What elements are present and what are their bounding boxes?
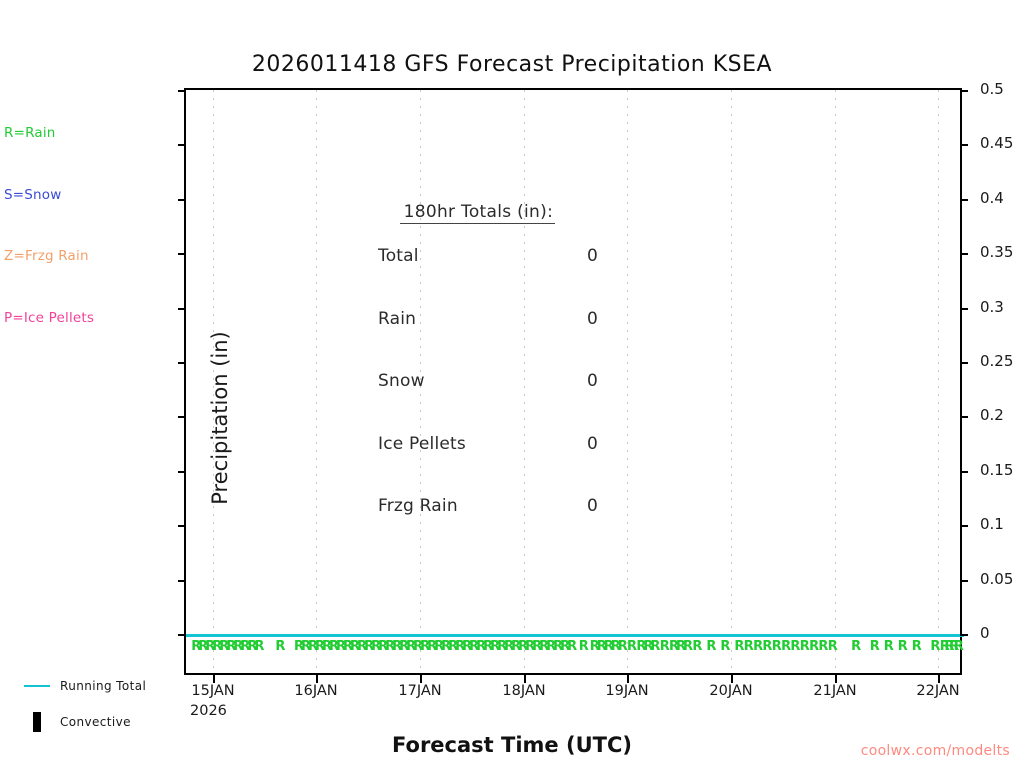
ytick-mark	[960, 525, 968, 527]
xtick-mark	[835, 675, 837, 683]
totals-label: Snow	[378, 370, 538, 393]
ptype-marker-row: RRRRRRRRRRRRRRRRRRRRRRRRRRRRRRRRRRRRRRRR…	[186, 640, 964, 654]
ytick-mark	[960, 634, 968, 636]
ytick-mark	[960, 580, 968, 582]
ptype-marker: R	[275, 640, 285, 654]
xtick-label: 19JAN	[605, 683, 648, 699]
ytick-mark	[960, 90, 968, 92]
ptype-marker: R	[692, 640, 702, 654]
ytick-mark	[178, 525, 186, 527]
ytick-mark	[960, 416, 968, 418]
xtick-mark	[316, 675, 318, 683]
ptype-marker: R	[851, 640, 861, 654]
ytick-mark	[178, 362, 186, 364]
legend-label: Convective	[60, 715, 131, 729]
ptype-legend-item-ice-pellets: P=Ice Pellets	[4, 308, 94, 329]
ytick-label-right: 0.25	[980, 352, 1013, 370]
series-legend: Running Total Convective	[14, 668, 146, 740]
bar-swatch-icon	[14, 712, 60, 732]
xtick-mark	[524, 675, 526, 683]
ytick-mark	[178, 199, 186, 201]
ptype-marker: R	[870, 640, 880, 654]
ytick-mark	[178, 144, 186, 146]
gridline	[938, 90, 939, 673]
xtick-label: 18JAN	[502, 683, 545, 699]
ytick-mark	[178, 90, 186, 92]
ytick-mark	[178, 580, 186, 582]
ytick-label-right: 0.45	[980, 134, 1013, 152]
ptype-marker: R	[254, 640, 264, 654]
ytick-mark	[178, 253, 186, 255]
ptype-marker: R	[828, 640, 838, 654]
totals-row-ice-pellets: Ice Pellets 0	[378, 433, 638, 456]
watermark: coolwx.com/modelts	[861, 743, 1010, 759]
xtick-label: 22JAN	[916, 683, 959, 699]
ytick-mark	[960, 144, 968, 146]
x-axis-year-label: 2026	[190, 703, 227, 719]
y-axis-title: Precipitation (in)	[208, 238, 232, 598]
ptype-marker: R	[898, 640, 908, 654]
xtick-mark	[938, 675, 940, 683]
totals-box: 180hr Totals (in): Total 0 Rain 0 Snow 0…	[378, 182, 638, 558]
gridline	[316, 90, 317, 673]
ptype-marker: R	[567, 640, 577, 654]
ytick-label-right: 0.05	[980, 570, 1013, 588]
totals-value: 0	[538, 308, 598, 331]
totals-label: Ice Pellets	[378, 433, 538, 456]
ptype-marker: R	[954, 640, 964, 654]
ytick-label-right: 0.35	[980, 243, 1013, 261]
totals-row-total: Total 0	[378, 245, 638, 268]
ytick-mark	[960, 362, 968, 364]
ytick-mark	[178, 471, 186, 473]
xtick-mark	[731, 675, 733, 683]
ytick-mark	[178, 308, 186, 310]
ytick-mark	[960, 308, 968, 310]
gridline	[731, 90, 732, 673]
legend-item-running-total: Running Total	[14, 668, 146, 704]
ytick-label-right: 0.4	[980, 189, 1004, 207]
ptype-marker: R	[720, 640, 730, 654]
ptype-marker: R	[912, 640, 922, 654]
ytick-mark	[178, 634, 186, 636]
gridline	[835, 90, 836, 673]
ptype-marker: R	[706, 640, 716, 654]
ytick-label-right: 0.1	[980, 515, 1004, 533]
totals-row-rain: Rain 0	[378, 308, 638, 331]
xtick-label: 20JAN	[709, 683, 752, 699]
ytick-mark	[178, 416, 186, 418]
totals-label: Rain	[378, 308, 538, 331]
ptype-legend-item-frzg-rain: Z=Frzg Rain	[4, 246, 94, 267]
legend-label: Running Total	[60, 679, 146, 693]
legend-item-convective: Convective	[14, 704, 146, 740]
ytick-label-right: 0.15	[980, 461, 1013, 479]
totals-heading: 180hr Totals (in):	[400, 202, 555, 224]
ptype-legend-item-snow: S=Snow	[4, 185, 94, 206]
totals-row-frzg-rain: Frzg Rain 0	[378, 495, 638, 518]
xtick-label: 16JAN	[294, 683, 337, 699]
ytick-label-right: 0.5	[980, 80, 1004, 98]
totals-value: 0	[538, 245, 598, 268]
xtick-mark	[213, 675, 215, 683]
page-title: 2026011418 GFS Forecast Precipitation KS…	[0, 52, 1024, 77]
xtick-label: 17JAN	[398, 683, 441, 699]
line-swatch-icon	[14, 685, 60, 687]
xtick-label: 15JAN	[191, 683, 234, 699]
ytick-mark	[960, 471, 968, 473]
ptype-legend: R=Rain S=Snow Z=Frzg Rain P=Ice Pellets	[4, 82, 94, 349]
totals-label: Frzg Rain	[378, 495, 538, 518]
totals-label: Total	[378, 245, 538, 268]
totals-value: 0	[538, 495, 598, 518]
ptype-marker: R	[884, 640, 894, 654]
ytick-label-right: 0.2	[980, 406, 1004, 424]
running-total-series	[186, 634, 964, 637]
ytick-mark	[960, 253, 968, 255]
totals-value: 0	[538, 370, 598, 393]
plot-area: 180hr Totals (in): Total 0 Rain 0 Snow 0…	[184, 88, 962, 675]
totals-value: 0	[538, 433, 598, 456]
xtick-mark	[420, 675, 422, 683]
ptype-legend-item-rain: R=Rain	[4, 123, 94, 144]
xtick-label: 21JAN	[813, 683, 856, 699]
ytick-mark	[960, 199, 968, 201]
ytick-label-right: 0.3	[980, 298, 1004, 316]
totals-row-snow: Snow 0	[378, 370, 638, 393]
ytick-label-right: 0	[980, 624, 990, 642]
xtick-mark	[627, 675, 629, 683]
ptype-marker: R	[579, 640, 589, 654]
